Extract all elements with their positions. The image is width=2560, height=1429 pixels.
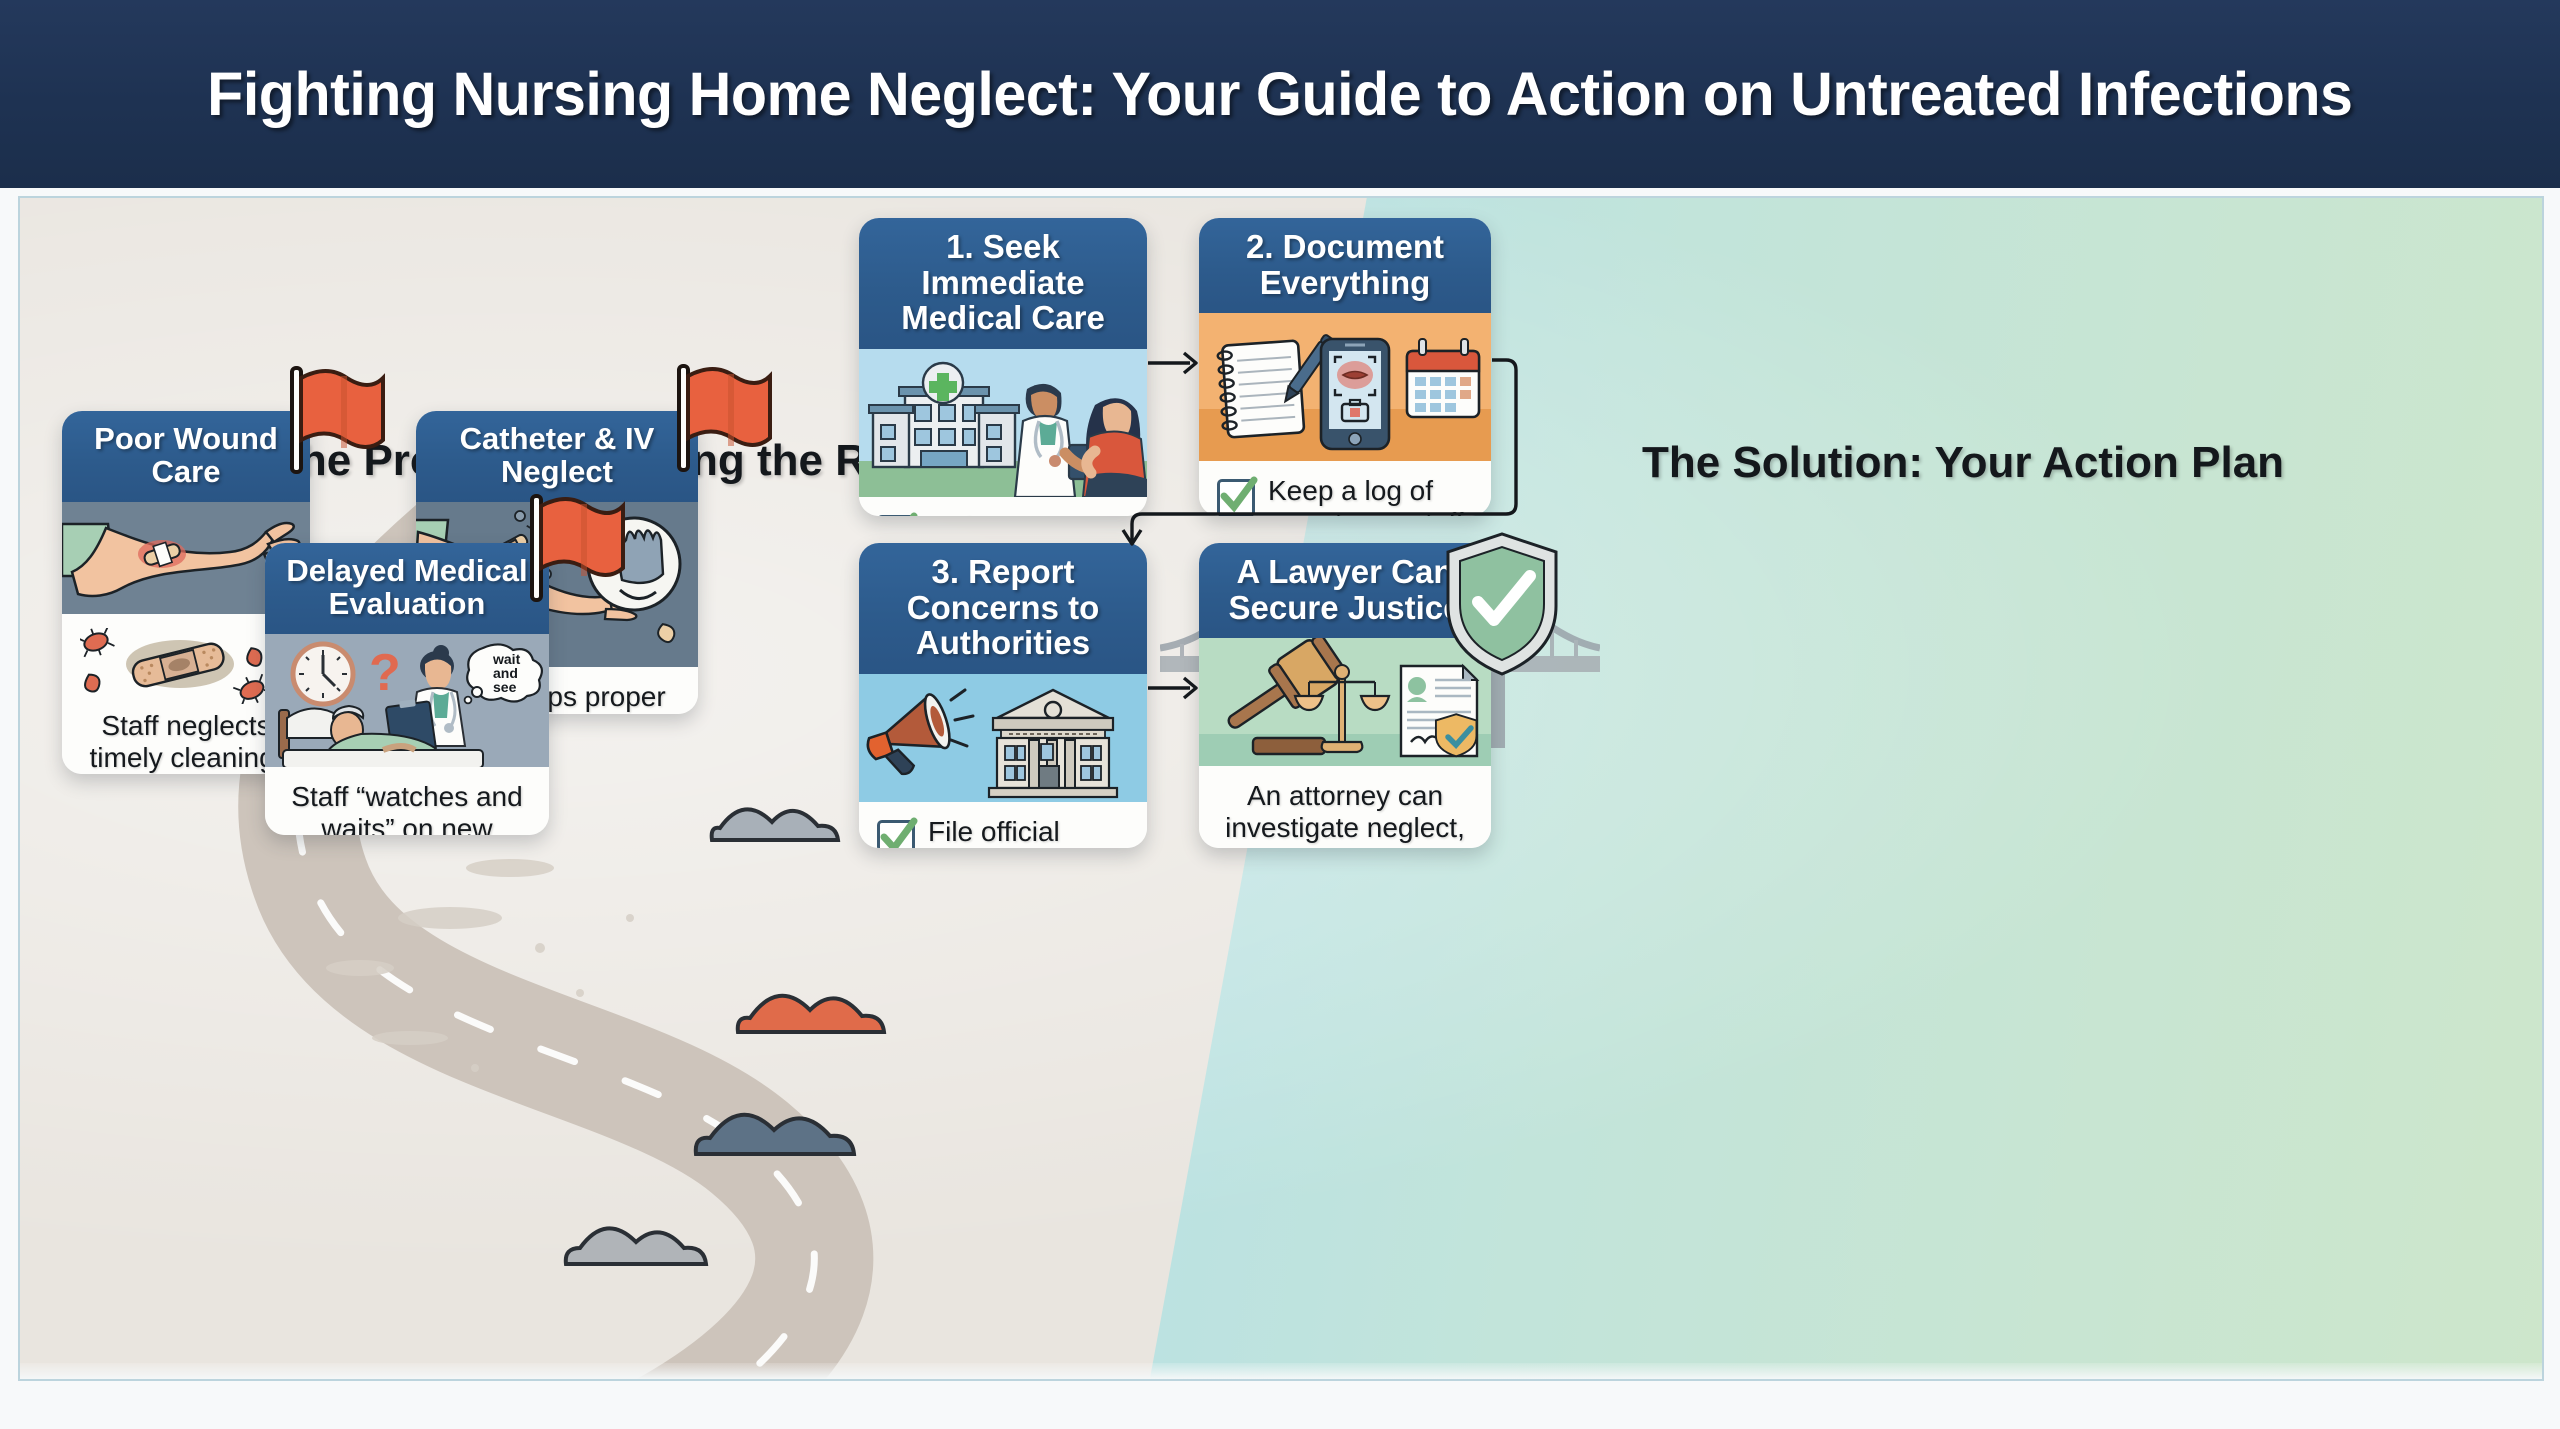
soiled-bandage-bacteria-illustration [80,628,276,704]
card-title: Poor Wound Care [62,411,310,502]
svg-text:?: ? [369,644,401,702]
page-title: Fighting Nursing Home Neglect: Your Guid… [207,59,2352,129]
infographic-canvas: The Problem: Spotting the Red Flags The … [18,196,2544,1381]
arrow-right-icon [1148,673,1202,703]
checkbox-checked-icon [877,515,915,516]
problem-card-delayed-medical-evaluation[interactable]: Delayed Medical Evaluation ? [265,543,549,835]
solution-section-heading: The Solution: Your Action Plan [1642,438,2284,488]
svg-text:see: see [493,679,517,695]
card-description: An attorney can investigate neglect, han… [1217,780,1473,848]
card-description: Staff neglects timely cleaning, ignores … [80,710,292,774]
clock-question-nurse-bedside-illustration: ? [265,634,549,767]
card-body: File official complaints with the Florid… [859,802,1147,848]
card-title: 2. Document Everything [1199,218,1491,313]
solution-card-report-concerns[interactable]: 3. Report Concerns to Authorities [859,543,1147,848]
bottom-strip [20,1363,2542,1379]
card-description: Staff “watches and waits” on new symptom… [283,781,531,835]
red-flag-icon [518,488,628,608]
checkbox-checked-icon [877,820,915,848]
title-banner: Fighting Nursing Home Neglect: Your Guid… [0,0,2560,188]
card-body: Staff “watches and waits” on new symptom… [265,767,549,835]
card-title: Delayed Medical Evaluation [265,543,549,634]
card-title: 3. Report Concerns to Authorities [859,543,1147,674]
card-body: An attorney can investigate neglect, han… [1199,766,1491,848]
infographic-page: Fighting Nursing Home Neglect: Your Guid… [0,0,2560,1429]
elbow-connector-arrow-icon [1080,348,1520,558]
megaphone-government-building-illustration [859,674,1147,802]
red-flag-icon [278,360,388,480]
card-description: File official complaints with the Florid… [928,816,1129,848]
shield-check-icon [1436,528,1568,680]
red-flag-icon [665,358,775,478]
card-title: 1. Seek Immediate Medical Care [859,218,1147,349]
